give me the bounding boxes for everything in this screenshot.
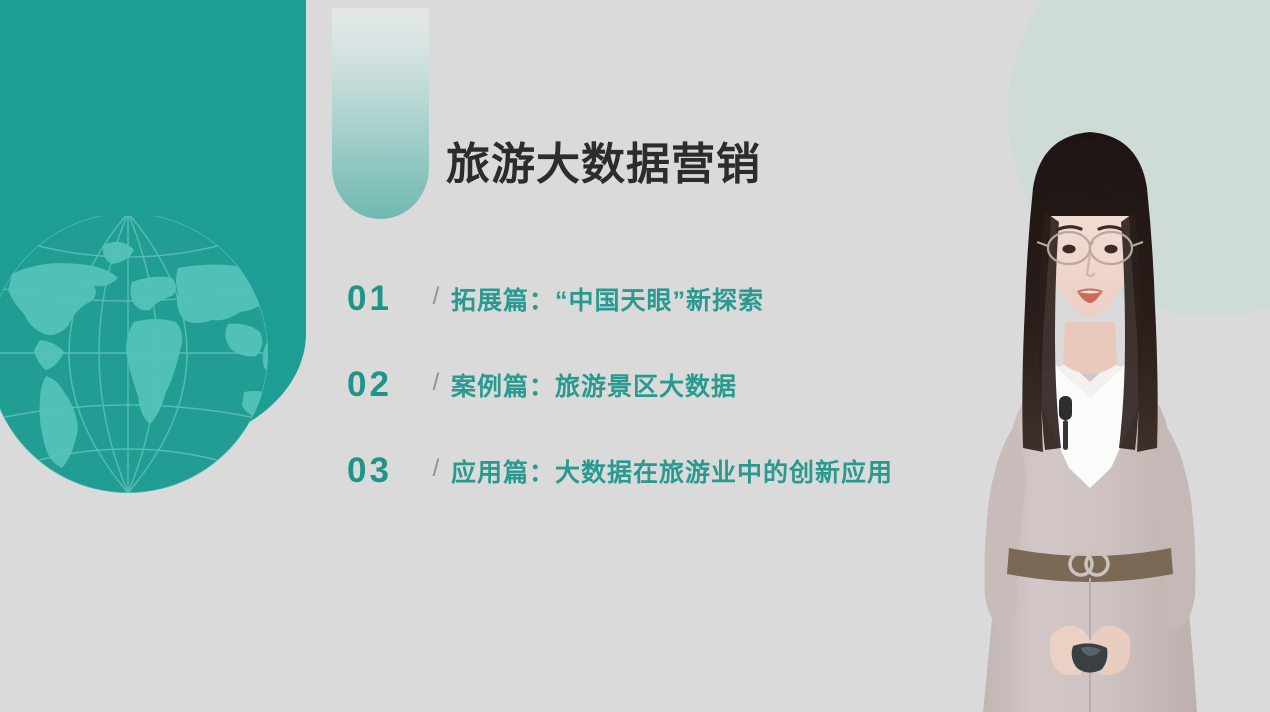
agenda-separator-icon: / xyxy=(421,369,451,397)
agenda-number: 02 xyxy=(347,365,421,405)
agenda-label: 拓展篇：“中国天眼”新探索 xyxy=(451,281,764,317)
globe-world-map-icon xyxy=(0,216,288,498)
agenda-separator-icon: / xyxy=(421,283,451,311)
agenda-number: 01 xyxy=(347,279,421,319)
page-title: 旅游大数据营销 xyxy=(446,140,761,191)
agenda-separator-icon: / xyxy=(421,455,451,483)
agenda-label: 案例篇：旅游景区大数据 xyxy=(451,367,737,403)
agenda-label: 应用篇：大数据在旅游业中的创新应用 xyxy=(451,453,893,489)
agenda-item-03[interactable]: 03 / 应用篇：大数据在旅游业中的创新应用 xyxy=(347,428,987,514)
rounded-pill-shape xyxy=(332,8,429,219)
agenda-list: 01 / 拓展篇：“中国天眼”新探索 02 / 案例篇：旅游景区大数据 03 /… xyxy=(347,256,987,514)
presenter-video-feed xyxy=(905,96,1270,712)
presentation-slide: 旅游大数据营销 01 / 拓展篇：“中国天眼”新探索 02 / 案例篇：旅游景区… xyxy=(0,0,1270,712)
agenda-number: 03 xyxy=(347,451,421,491)
agenda-item-01[interactable]: 01 / 拓展篇：“中国天眼”新探索 xyxy=(347,256,987,342)
agenda-item-02[interactable]: 02 / 案例篇：旅游景区大数据 xyxy=(347,342,987,428)
